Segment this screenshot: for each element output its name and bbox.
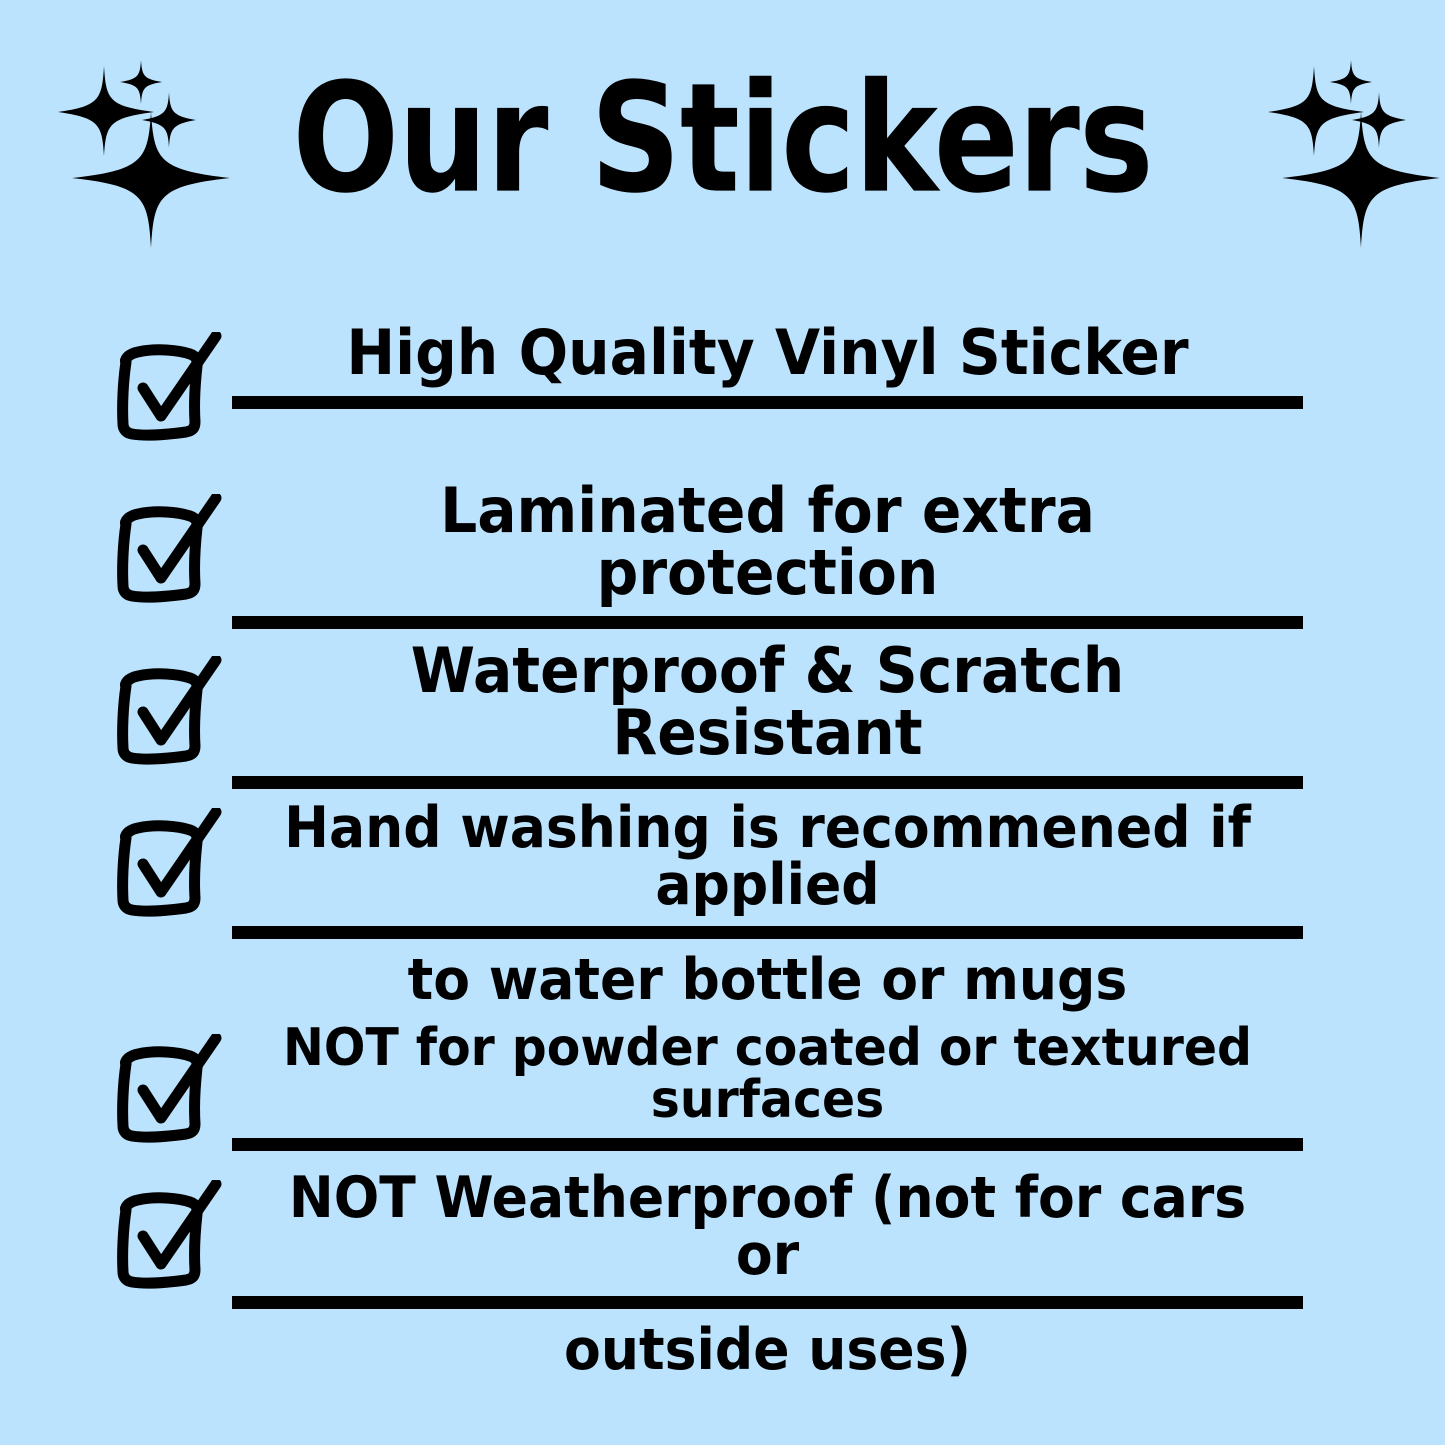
list-item: Laminated for extra protection bbox=[0, 480, 1445, 640]
list-item-body: NOT Weatherproof (not for cars or outsid… bbox=[232, 1170, 1303, 1381]
checkbox-checked-icon[interactable] bbox=[104, 332, 222, 442]
list-item-underline bbox=[232, 926, 1303, 939]
page-title: Our Stickers bbox=[292, 62, 1152, 213]
list-item: NOT Weatherproof (not for cars or outsid… bbox=[0, 1170, 1445, 1370]
feature-checklist: High Quality Vinyl Sticker Laminated for… bbox=[0, 322, 1445, 1370]
list-item: Waterproof & Scratch Resistant bbox=[0, 640, 1445, 800]
list-item: High Quality Vinyl Sticker bbox=[0, 322, 1445, 480]
checkbox-checked-icon[interactable] bbox=[104, 494, 222, 604]
list-item-label: High Quality Vinyl Sticker bbox=[264, 322, 1271, 384]
list-item-body: NOT for powder coated or textured surfac… bbox=[232, 1022, 1303, 1151]
list-item-underline bbox=[232, 1138, 1303, 1151]
list-item-label: Laminated for extra protection bbox=[264, 480, 1271, 604]
list-item-label: Hand washing is recommened if applied bbox=[264, 800, 1271, 914]
list-item-underline bbox=[232, 396, 1303, 409]
checkbox-checked-icon[interactable] bbox=[104, 656, 222, 766]
list-item-label-continued: to water bottle or mugs bbox=[264, 951, 1271, 1011]
list-item-label: NOT Weatherproof (not for cars or bbox=[264, 1170, 1271, 1284]
list-item: NOT for powder coated or textured surfac… bbox=[0, 1022, 1445, 1170]
poster-canvas: Our Stickers High Quality Vinyl Sticker bbox=[0, 0, 1445, 1445]
checkbox-checked-icon[interactable] bbox=[104, 1034, 222, 1144]
list-item-label: NOT for powder coated or textured surfac… bbox=[264, 1022, 1271, 1126]
list-item-body: Waterproof & Scratch Resistant bbox=[232, 640, 1303, 789]
page-title-row: Our Stickers bbox=[0, 58, 1445, 218]
list-item-underline bbox=[232, 1296, 1303, 1309]
list-item-body: Hand washing is recommened if applied to… bbox=[232, 800, 1303, 1011]
list-item: Hand washing is recommened if applied to… bbox=[0, 800, 1445, 1022]
list-item-body: High Quality Vinyl Sticker bbox=[232, 322, 1303, 409]
list-item-underline bbox=[232, 616, 1303, 629]
list-item-label: Waterproof & Scratch Resistant bbox=[264, 640, 1271, 764]
checkbox-checked-icon[interactable] bbox=[104, 1180, 222, 1290]
list-item-underline bbox=[232, 776, 1303, 789]
checkbox-checked-icon[interactable] bbox=[104, 808, 222, 918]
list-item-body: Laminated for extra protection bbox=[232, 480, 1303, 629]
list-item-label-continued: outside uses) bbox=[264, 1321, 1271, 1381]
